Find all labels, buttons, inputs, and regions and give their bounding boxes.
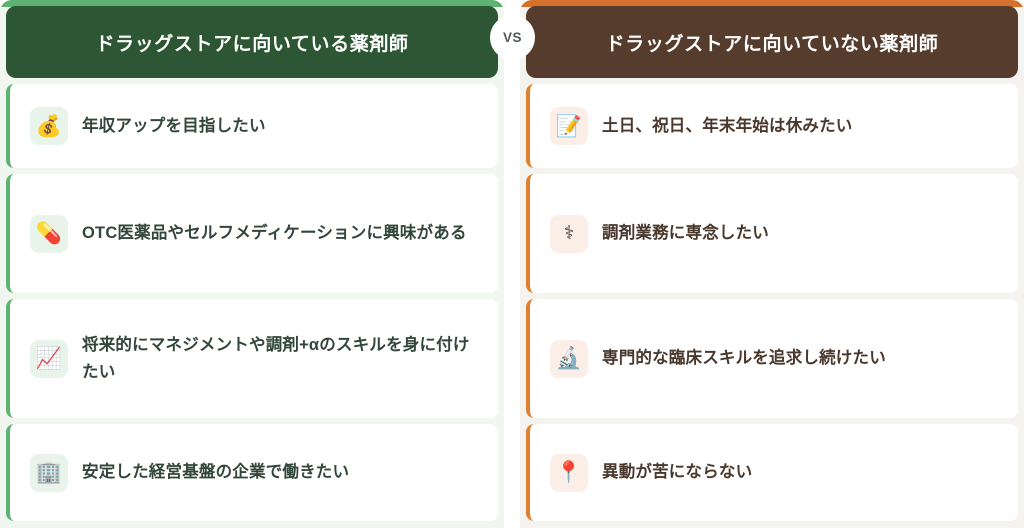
- office-building-icon: 🏢: [30, 454, 68, 492]
- table-row-label: 異動が苦にならない: [602, 459, 752, 486]
- table-row-label: 専門的な臨床スキルを追求し続けたい: [602, 345, 886, 372]
- table-row[interactable]: 🔬 専門的な臨床スキルを追求し続けたい: [526, 299, 1018, 418]
- table-row[interactable]: 📝 土日、祝日、年末年始は休みたい: [526, 84, 1018, 168]
- table-row-label: 年収アップを目指したい: [82, 113, 266, 140]
- table-row-label: 安定した経営基盤の企業で働きたい: [82, 459, 349, 486]
- column-suited: ドラッグストアに向いている薬剤師 💰 年収アップを目指したい 💊 OTC医薬品や…: [0, 0, 504, 528]
- medical-symbol-icon: ⚕: [550, 215, 588, 253]
- table-row[interactable]: 💊 OTC医薬品やセルフメディケーションに興味がある: [6, 174, 498, 293]
- memo-icon: 📝: [550, 107, 588, 145]
- chart-increasing-icon: 📈: [30, 340, 68, 378]
- vs-badge: VS: [490, 15, 535, 60]
- money-bag-icon: 💰: [30, 107, 68, 145]
- pill-icon: 💊: [30, 215, 68, 253]
- column-body-suited: 💰 年収アップを目指したい 💊 OTC医薬品やセルフメディケーションに興味がある…: [0, 78, 504, 528]
- column-header-suited: ドラッグストアに向いている薬剤師: [6, 6, 498, 78]
- microscope-icon: 🔬: [550, 340, 588, 378]
- table-row[interactable]: ⚕ 調剤業務に専念したい: [526, 174, 1018, 293]
- comparison-table: ドラッグストアに向いている薬剤師 💰 年収アップを目指したい 💊 OTC医薬品や…: [0, 0, 1024, 528]
- table-row-label: 調剤業務に専念したい: [602, 220, 769, 247]
- column-not-suited: ドラッグストアに向いていない薬剤師 📝 土日、祝日、年末年始は休みたい ⚕ 調剤…: [520, 0, 1024, 528]
- table-row[interactable]: 💰 年収アップを目指したい: [6, 84, 498, 168]
- table-row[interactable]: 📈 将来的にマネジメントや調剤+αのスキルを身に付けたい: [6, 299, 498, 418]
- table-row-label: OTC医薬品やセルフメディケーションに興味がある: [82, 220, 467, 247]
- column-header-not-suited: ドラッグストアに向いていない薬剤師: [526, 6, 1018, 78]
- table-row[interactable]: 🏢 安定した経営基盤の企業で働きたい: [6, 424, 498, 521]
- column-body-not-suited: 📝 土日、祝日、年末年始は休みたい ⚕ 調剤業務に専念したい 🔬 専門的な臨床ス…: [520, 78, 1024, 528]
- table-row[interactable]: 📍 異動が苦にならない: [526, 424, 1018, 521]
- table-row-label: 将来的にマネジメントや調剤+αのスキルを身に付けたい: [82, 332, 480, 385]
- round-pushpin-icon: 📍: [550, 454, 588, 492]
- table-row-label: 土日、祝日、年末年始は休みたい: [602, 113, 853, 140]
